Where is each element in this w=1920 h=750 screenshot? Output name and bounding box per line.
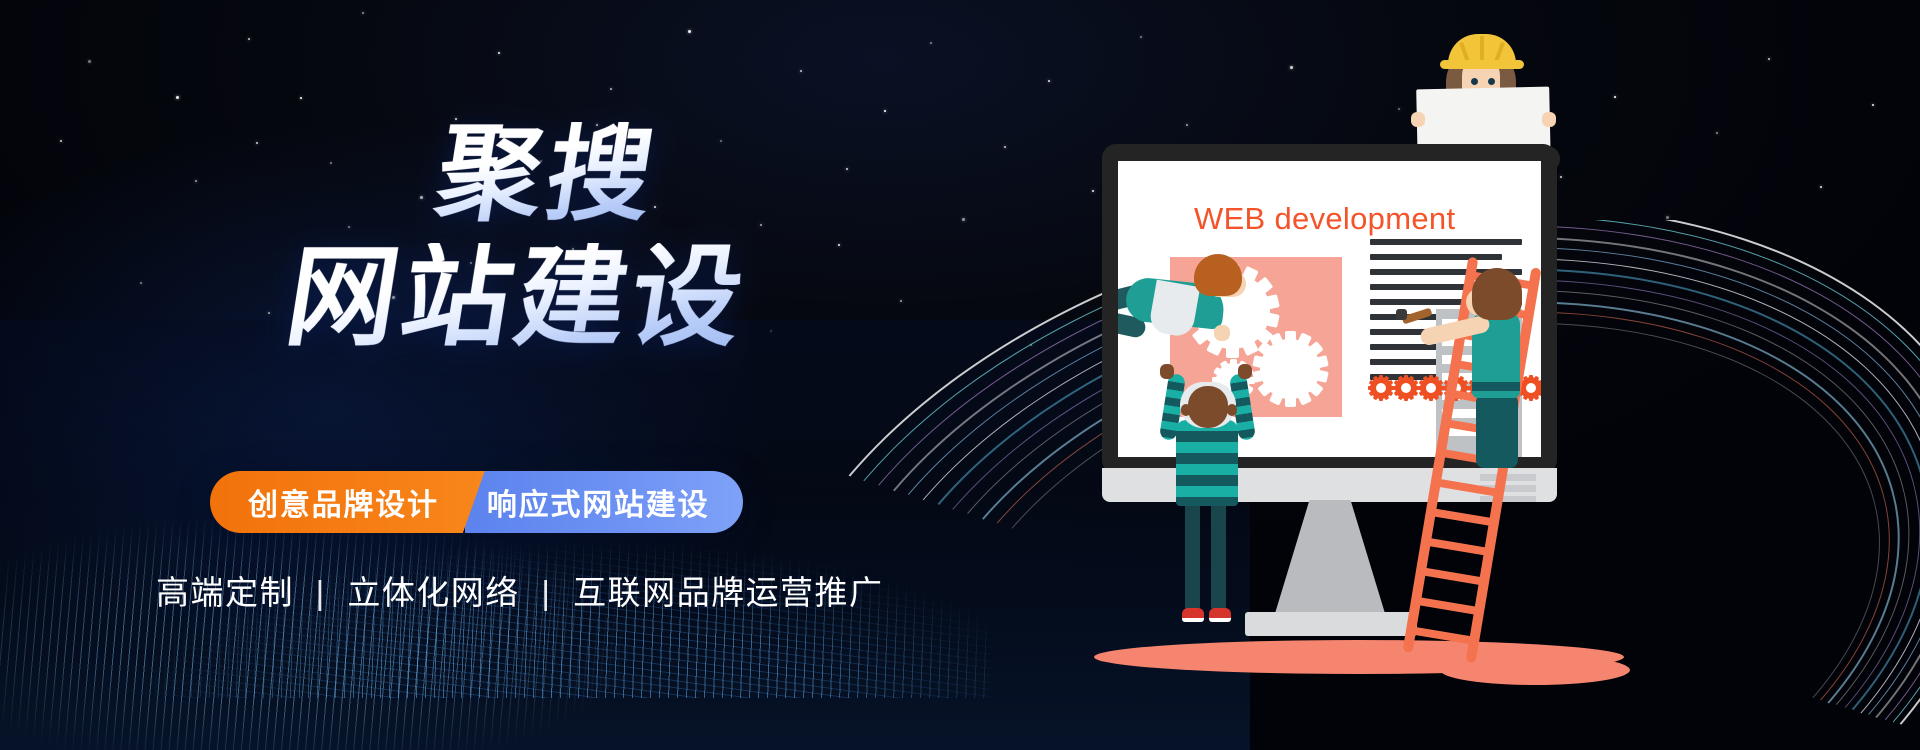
climber-belt (1472, 382, 1520, 391)
climber-legs (1476, 394, 1518, 468)
climber-brush-tip (1396, 309, 1407, 320)
mini-gear-icon (1420, 377, 1442, 399)
kid-hand-left (1160, 364, 1174, 379)
headline-block: 聚搜 网站建设 创意品牌设计 响应式网站建设 高端定制 | 立体化网络 | 互联… (0, 0, 900, 750)
star (1048, 80, 1050, 82)
kid-leg-right (1211, 500, 1226, 612)
monitor-base (1245, 612, 1417, 636)
ladder-rung (1409, 626, 1475, 645)
star (1004, 146, 1006, 148)
kid-shoe-right (1209, 608, 1231, 622)
woman-eye-right (1488, 78, 1495, 85)
woman-eye-left (1471, 78, 1478, 85)
screen-heading: WEB development (1194, 201, 1455, 237)
kid-shoe-left (1182, 608, 1204, 622)
ladder-rung (1434, 478, 1500, 497)
brand-title: 聚搜 (430, 122, 665, 227)
woman-hand-left (1411, 112, 1425, 127)
mini-gear-icon (1520, 377, 1541, 399)
mini-gear-icon (1370, 377, 1392, 399)
badge-primary[interactable]: 创意品牌设计 (210, 471, 485, 533)
kid-torso (1176, 420, 1238, 506)
painter-hair (1194, 254, 1242, 296)
ladder-rung (1419, 567, 1485, 586)
kid-hand-right (1238, 364, 1252, 379)
tagline-item-1: 高端定制 (156, 574, 294, 611)
kid-head (1188, 386, 1228, 428)
web-development-promo-banner: 聚搜 网站建设 创意品牌设计 响应式网站建设 高端定制 | 立体化网络 | 互联… (0, 0, 1920, 750)
kid-legs (1185, 500, 1231, 620)
climber-hair (1472, 268, 1522, 320)
painter-hand (1214, 325, 1230, 341)
service-badge-bar: 创意品牌设计 响应式网站建设 (210, 471, 743, 533)
badge-secondary[interactable]: 响应式网站建设 (465, 471, 744, 533)
ladder-rung (1424, 537, 1490, 556)
kid-ear-right (1227, 404, 1237, 416)
content-line (1370, 239, 1522, 245)
gear-medium-icon (1260, 339, 1320, 399)
monitor-stand (1273, 500, 1387, 620)
star (930, 42, 932, 44)
ladder-rung (1414, 597, 1480, 616)
woman-hand-right (1542, 112, 1556, 127)
tagline-item-2: 立体化网络 (347, 574, 519, 611)
tagline-separator-1: | (316, 574, 326, 611)
tagline-item-3: 互联网品牌运营推广 (573, 574, 883, 611)
ladder-rung (1429, 508, 1495, 527)
tagline: 高端定制 | 立体化网络 | 互联网品牌运营推广 (156, 566, 884, 614)
tagline-separator-2: | (541, 574, 551, 611)
mini-gear-icon (1395, 377, 1417, 399)
hard-hat-brim (1440, 60, 1524, 69)
headline-title: 网站建设 (279, 243, 754, 353)
kid-leg-left (1185, 500, 1200, 612)
monitor-illustration: WEB development (1080, 0, 1920, 750)
